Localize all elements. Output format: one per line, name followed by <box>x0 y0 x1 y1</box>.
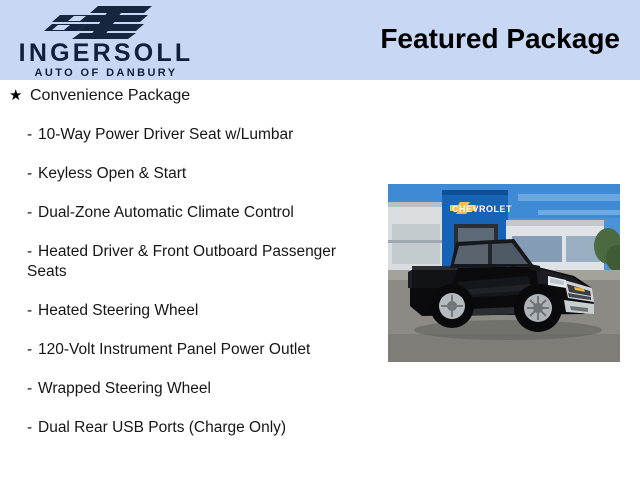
dealer-logo: INGERSOLL AUTO OF DANBURY <box>0 2 220 80</box>
list-item: - Keyless Open & Start <box>0 164 357 184</box>
dealer-sign-label: CHEVROLET <box>452 204 512 214</box>
winged-speed-emblem-icon <box>40 5 170 39</box>
list-item-label: Heated Driver & Front Outboard Passenger… <box>27 242 357 282</box>
dash-marker: - <box>27 301 32 321</box>
dash-marker: - <box>27 164 32 184</box>
star-bullet-icon: ★ <box>9 86 22 106</box>
list-item-label: 120-Volt Instrument Panel Power Outlet <box>27 340 357 360</box>
vehicle-photo: CHEVROLET <box>388 184 620 362</box>
list-item-label: Dual Rear USB Ports (Charge Only) <box>27 418 357 438</box>
page-title: Featured Package <box>380 22 620 56</box>
list-item: - Heated Driver & Front Outboard Passeng… <box>0 242 357 282</box>
list-item: - Wrapped Steering Wheel <box>0 379 357 399</box>
list-item-label: Heated Steering Wheel <box>27 301 357 321</box>
feature-heading-label: Convenience Package <box>30 87 190 104</box>
list-item: - Heated Steering Wheel <box>0 301 357 321</box>
dash-marker: - <box>27 379 32 399</box>
dash-marker: - <box>27 418 32 438</box>
list-item-label: Wrapped Steering Wheel <box>27 379 357 399</box>
feature-list-heading: ★ Convenience Package <box>0 86 380 106</box>
dash-marker: - <box>27 340 32 360</box>
dash-marker: - <box>27 242 32 262</box>
list-item-label: 10-Way Power Driver Seat w/Lumbar <box>27 125 357 145</box>
featured-package-slide: INGERSOLL AUTO OF DANBURY Featured Packa… <box>0 0 640 480</box>
list-item: - Dual-Zone Automatic Climate Control <box>0 203 357 223</box>
list-item: - 10-Way Power Driver Seat w/Lumbar <box>0 125 357 145</box>
list-item-label: Keyless Open & Start <box>27 164 357 184</box>
brand-wordmark: INGERSOLL <box>8 40 204 66</box>
list-item: - Dual Rear USB Ports (Charge Only) <box>0 418 357 438</box>
dash-marker: - <box>27 125 32 145</box>
list-item-label: Dual-Zone Automatic Climate Control <box>27 203 357 223</box>
header-band: INGERSOLL AUTO OF DANBURY Featured Packa… <box>0 0 640 80</box>
feature-list: ★ Convenience Package - 10-Way Power Dri… <box>0 86 380 457</box>
dash-marker: - <box>27 203 32 223</box>
brand-tagline: AUTO OF DANBURY <box>8 67 204 79</box>
list-item: - 120-Volt Instrument Panel Power Outlet <box>0 340 357 360</box>
